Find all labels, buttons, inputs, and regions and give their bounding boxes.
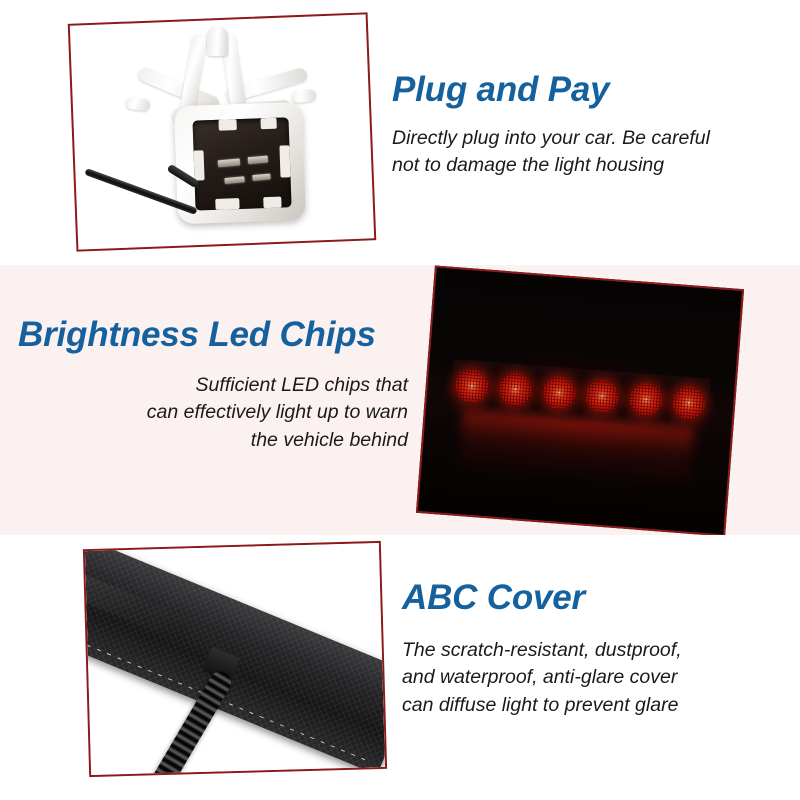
- led-chip: [454, 369, 490, 405]
- feature-description-line: The scratch-resistant, dustproof,: [402, 637, 792, 665]
- feature-description: The scratch-resistant, dustproof, and wa…: [402, 637, 792, 720]
- led-chip: [671, 385, 707, 421]
- feature-description: Directly plug into your car. Be careful …: [392, 125, 792, 180]
- cover-embossed-logo: [85, 573, 193, 643]
- retainer-clip-right-tip: [291, 89, 316, 103]
- abc-cover-photo: [83, 541, 387, 777]
- cover-photo-stage: [85, 543, 385, 775]
- connector-cavity: [192, 117, 291, 210]
- feature-panel-brightness-led-chips: Brightness Led Chips Sufficient LED chip…: [0, 265, 800, 535]
- feature-description-line: can effectively light up to warn: [18, 399, 408, 427]
- led-chip: [541, 375, 577, 411]
- feature-panel-plug-and-pay: Plug and Pay Directly plug into your car…: [0, 0, 800, 265]
- illuminated-led-strip-photo: [416, 265, 744, 535]
- feature-description-line: and waterproof, anti-glare cover: [402, 664, 792, 692]
- feature-description-line: Sufficient LED chips that: [18, 372, 408, 400]
- feature-description-line: not to damage the light housing: [392, 152, 792, 180]
- feature-description: Sufficient LED chips that can effectivel…: [18, 372, 408, 455]
- connector-terminal: [218, 158, 241, 167]
- feature-heading: Brightness Led Chips: [18, 317, 408, 354]
- cavity-notch-top-left: [218, 119, 236, 131]
- cavity-notch-bottom-right: [263, 197, 281, 209]
- feature-text-plug-and-pay: Plug and Pay Directly plug into your car…: [392, 72, 792, 180]
- connector-terminal: [248, 156, 269, 165]
- feature-description-line: Directly plug into your car. Be careful: [392, 125, 792, 153]
- connector-terminal: [252, 173, 270, 181]
- retainer-clip-apex: [207, 26, 228, 56]
- connector-housing: [174, 102, 306, 224]
- bulb-connector-photo: [68, 12, 377, 251]
- feature-description-line: can diffuse light to prevent glare: [402, 692, 792, 720]
- feature-heading: ABC Cover: [402, 580, 792, 617]
- feature-heading: Plug and Pay: [392, 72, 792, 109]
- feature-description-line: the vehicle behind: [18, 427, 408, 455]
- feature-text-brightness-led-chips: Brightness Led Chips Sufficient LED chip…: [18, 317, 408, 455]
- product-feature-infographic: Plug and Pay Directly plug into your car…: [0, 0, 800, 800]
- cavity-notch-top-right: [260, 118, 276, 130]
- led-chip: [497, 372, 533, 408]
- led-chip: [628, 382, 664, 418]
- led-photo-stage: [418, 268, 742, 535]
- cover-stitch-line: [85, 627, 368, 761]
- feature-text-abc-cover: ABC Cover The scratch-resistant, dustpro…: [402, 580, 792, 720]
- cavity-notch-bottom-left: [215, 198, 239, 210]
- cavity-notch-left: [194, 150, 205, 180]
- connector-photo-stage: [74, 20, 370, 244]
- cavity-notch-right: [279, 145, 290, 177]
- connector-terminal: [224, 176, 244, 184]
- feature-panel-abc-cover: ABC Cover The scratch-resistant, dustpro…: [0, 535, 800, 800]
- retainer-clip-left-tip: [125, 96, 150, 111]
- led-chip: [584, 379, 620, 415]
